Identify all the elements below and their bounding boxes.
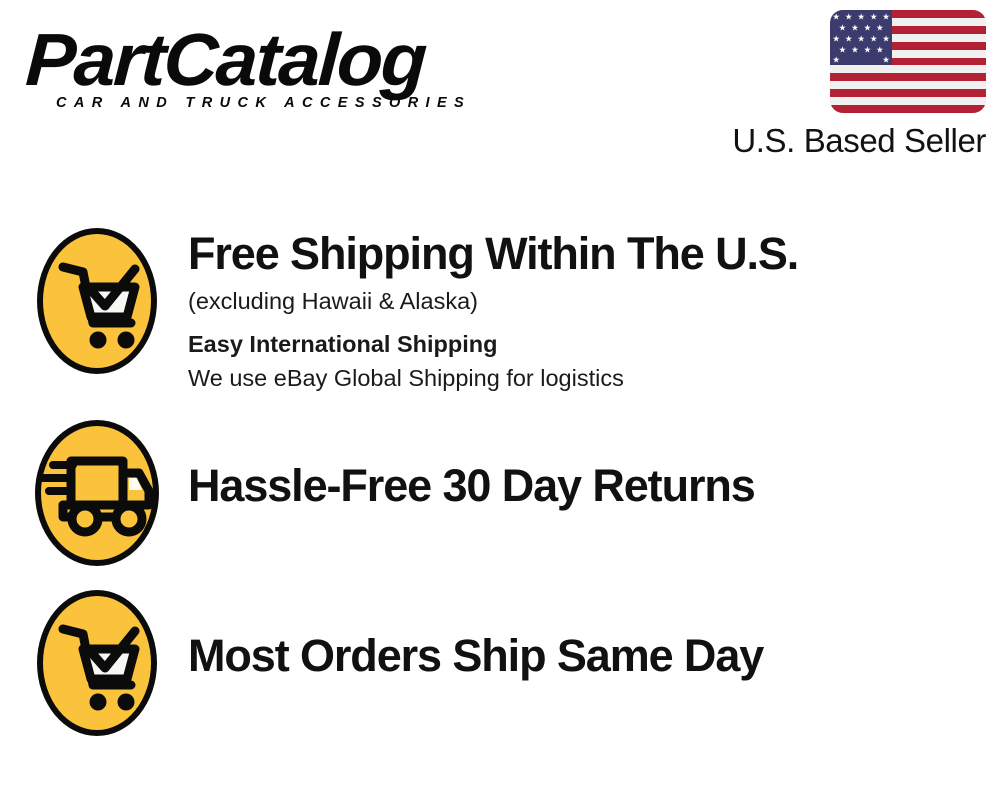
seller-label: U.S. Based Seller: [714, 122, 986, 160]
feature-text-wrap: Free Shipping Within The U.S. (excluding…: [152, 228, 798, 393]
feature-subtext-bold: Easy International Shipping: [188, 329, 798, 359]
feature-row: Most Orders Ship Same Day: [0, 590, 1000, 760]
flag-canton: ★ ★ ★ ★ ★ ★ ★ ★ ★ ★ ★ ★ ★ ★ ★ ★ ★ ★ ★ ★: [830, 10, 892, 65]
shopping-cart-check-icon: [37, 590, 157, 736]
feature-subtext: We use eBay Global Shipping for logistic…: [188, 363, 798, 393]
us-based-seller-badge: ★ ★ ★ ★ ★ ★ ★ ★ ★ ★ ★ ★ ★ ★ ★ ★ ★ ★ ★ ★ …: [714, 10, 986, 160]
feature-title: Free Shipping Within The U.S.: [188, 230, 798, 278]
feature-title: Hassle-Free 30 Day Returns: [188, 462, 755, 510]
us-flag-icon: ★ ★ ★ ★ ★ ★ ★ ★ ★ ★ ★ ★ ★ ★ ★ ★ ★ ★ ★ ★: [830, 10, 986, 113]
feature-row: Hassle-Free 30 Day Returns: [0, 420, 1000, 590]
feature-subtext: (excluding Hawaii & Alaska): [188, 286, 798, 316]
brand-logo[interactable]: PartCatalog CAR AND TRUCK ACCESSORIES: [26, 26, 496, 111]
shopping-cart-check-icon: [37, 228, 157, 374]
delivery-truck-icon: [35, 420, 159, 566]
feature-icon-wrap: [0, 228, 152, 374]
feature-title: Most Orders Ship Same Day: [188, 632, 763, 680]
brand-wordmark: PartCatalog: [24, 26, 507, 94]
feature-text-wrap: Most Orders Ship Same Day: [152, 590, 763, 680]
feature-icon-wrap: [0, 420, 152, 566]
feature-row: Free Shipping Within The U.S. (excluding…: [0, 228, 1000, 420]
feature-text-wrap: Hassle-Free 30 Day Returns: [152, 420, 755, 510]
feature-icon-wrap: [0, 590, 152, 736]
feature-list: Free Shipping Within The U.S. (excluding…: [0, 228, 1000, 760]
